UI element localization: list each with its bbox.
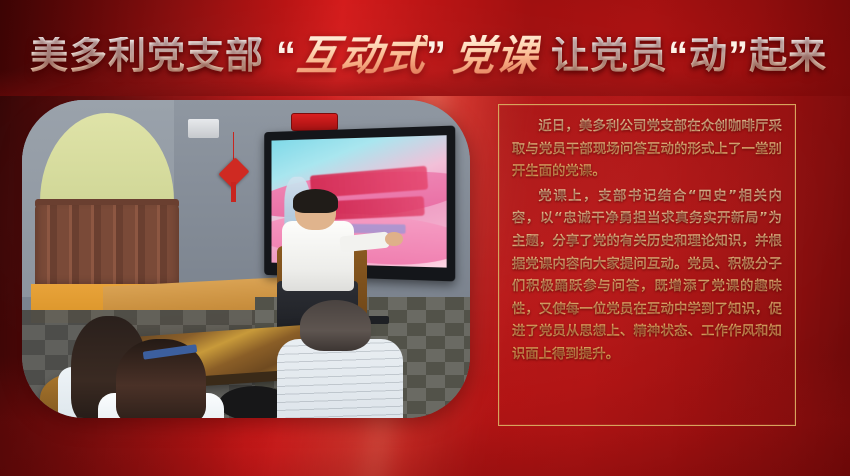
event-photo <box>22 100 470 418</box>
title-quote-open-2: “ <box>668 36 689 76</box>
article-panel: 近日，美多利公司党支部在众创咖啡厅采取与党员干部现场问答互动的形式上了一堂别开生… <box>498 104 796 426</box>
photo-speaker-hair <box>293 189 339 213</box>
page-title: 美多利党支部 “ 互动式 ” 党课 让党员 “ 动 ” 起来 <box>30 26 827 86</box>
photo-speaker-body <box>282 221 354 291</box>
photo-chinese-knot-icon <box>224 132 244 202</box>
title-segment-org: 美多利党支部 <box>30 37 264 75</box>
title-quote-close: ” <box>426 36 447 76</box>
photo-booth-seat-back <box>35 205 178 291</box>
title-segment-rise: 起来 <box>749 37 827 75</box>
title-segment-members: 让党员 <box>551 37 668 75</box>
title-quote-open: “ <box>276 36 297 76</box>
article-paragraph-1: 近日，美多利公司党支部在众创咖啡厅采取与党员干部现场问答互动的形式上了一堂别开生… <box>512 116 782 184</box>
photo-speaker-hand <box>385 232 403 246</box>
title-segment-move: 动 <box>689 37 728 75</box>
photo-attendee-back-head <box>300 300 372 351</box>
article-paragraph-2: 党课上，支部书记结合“四史”相关内容，以“忠诚干净勇担当求真务实开新局”为主题，… <box>512 186 782 367</box>
title-quote-close-2: ” <box>728 36 749 76</box>
title-segment-lesson: 党课 <box>451 35 541 77</box>
photo-wall-unit-icon <box>188 119 219 138</box>
article-panel-inner: 近日，美多利公司党支部在众创咖啡厅采取与党员干部现场问答互动的形式上了一堂别开生… <box>512 116 782 414</box>
title-segment-interactive: 互动式 <box>295 35 428 77</box>
photo-fire-extinguisher-box <box>291 113 338 131</box>
poster-canvas: 美多利党支部 “ 互动式 ” 党课 让党员 “ 动 ” 起来 <box>0 0 850 476</box>
